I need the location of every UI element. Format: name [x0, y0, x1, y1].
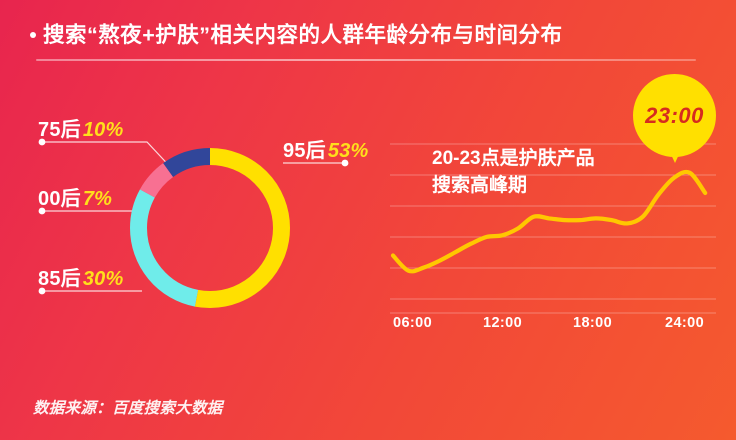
annotation-line-2: 搜索高峰期 — [432, 173, 595, 200]
data-source-footer: 数据来源：百度搜索大数据 — [33, 396, 223, 418]
x-tick-12: 12:00 — [483, 315, 522, 331]
pie-label-95-value: 53% — [328, 140, 369, 162]
donut-ring — [139, 157, 282, 300]
infographic-canvas: 搜索“熬夜+护肤”相关内容的人群年龄分布与时间分布 — [0, 0, 736, 440]
pie-label-75: 75后10% — [38, 113, 124, 142]
page-title: 搜索“熬夜+护肤”相关内容的人群年龄分布与时间分布 — [30, 18, 563, 49]
pie-label-00-value: 7% — [83, 188, 112, 210]
line-chart-annotation: 20-23点是护肤产品 搜索高峰期 — [432, 146, 595, 200]
pie-label-85-value: 30% — [83, 268, 124, 290]
x-tick-24: 24:00 — [665, 315, 704, 331]
pie-label-00: 00后7% — [38, 182, 112, 211]
pie-label-85-name: 85后 — [38, 268, 81, 290]
pie-label-75-name: 75后 — [38, 119, 81, 141]
pie-label-00-name: 00后 — [38, 188, 81, 210]
callout-label: 23:00 — [633, 74, 716, 157]
pie-label-85: 85后30% — [38, 262, 124, 291]
title-text: 搜索“熬夜+护肤”相关内容的人群年龄分布与时间分布 — [43, 18, 563, 49]
annotation-line-1: 20-23点是护肤产品 — [432, 146, 595, 173]
title-bullet-icon — [30, 32, 36, 38]
peak-time-callout: 23:00 — [633, 74, 716, 157]
age-distribution-donut-chart: 75后10% 00后7% 85后30% 95后53% — [0, 95, 380, 355]
pie-label-75-value: 10% — [83, 119, 124, 141]
x-tick-18: 18:00 — [573, 315, 612, 331]
leader-line-75 — [42, 142, 176, 173]
x-tick-06: 06:00 — [393, 315, 432, 331]
pie-label-95-name: 95后 — [283, 140, 326, 162]
pie-label-95: 95后53% — [283, 134, 369, 163]
